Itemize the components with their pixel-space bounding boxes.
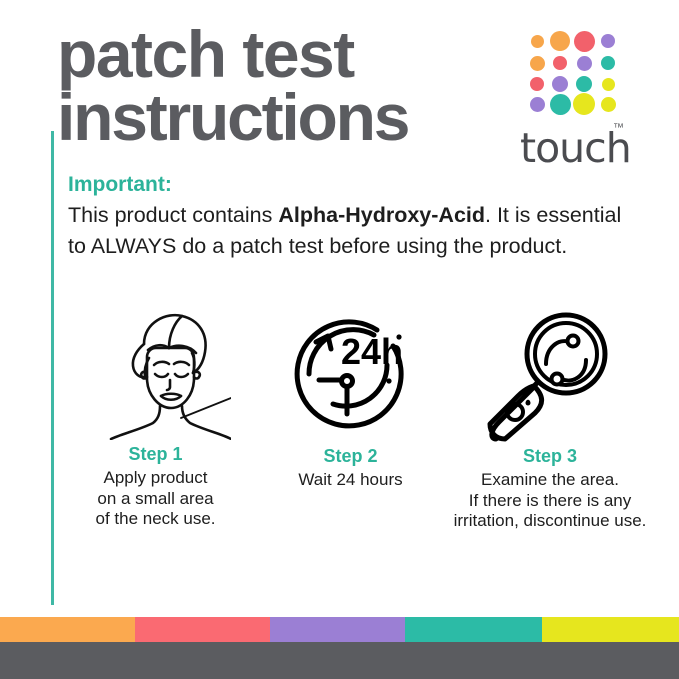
logo-dot-r3-c2	[552, 76, 568, 92]
face-with-towel-patch-icon	[81, 300, 231, 440]
brand-logo: touch ™	[512, 30, 622, 165]
step-2-line-1: Wait 24 hours	[258, 470, 443, 491]
step-2-description: Wait 24 hours	[258, 470, 443, 491]
logo-dot-grid-icon	[526, 30, 620, 118]
notice-text: This product contains Alpha-Hydroxy-Acid…	[68, 200, 638, 262]
logo-dot-r1-c4	[601, 34, 615, 48]
logo-dot-r2-c4	[601, 56, 615, 70]
notice-text-before: This product contains	[68, 203, 278, 227]
logo-dot-r4-c3	[573, 93, 595, 115]
step-2-title: Step 2	[258, 446, 443, 467]
step-1-line-1: Apply product	[58, 468, 253, 489]
title-line-1: patch test	[57, 23, 497, 86]
header: patch test instructions touch ™	[0, 0, 679, 170]
logo-dot-r3-c3	[576, 76, 592, 92]
logo-dot-r3-c1	[530, 77, 544, 91]
step-3: Step 3 Examine the area. If there is the…	[440, 302, 660, 532]
logo-dot-r1-c1	[531, 35, 544, 48]
step-2: 24h Step 2 Wait 24 hours	[258, 302, 443, 491]
footer-bar-orange	[0, 617, 135, 642]
title-line-2: instructions	[57, 86, 497, 149]
notice-block: Important: This product contains Alpha-H…	[68, 172, 638, 263]
magnifying-glass-icon	[478, 302, 623, 442]
logo-dot-r2-c1	[530, 56, 545, 71]
step-3-line-1: Examine the area.	[440, 470, 660, 491]
logo-dot-r4-c4	[601, 97, 616, 112]
clock-label: 24h	[341, 331, 403, 372]
step-1-artwork	[58, 300, 253, 440]
step-3-title: Step 3	[440, 446, 660, 467]
step-1-line-2: on a small area	[58, 489, 253, 510]
footer-color-bar	[0, 617, 679, 642]
logo-dot-r2-c3	[577, 56, 592, 71]
logo-dot-r4-c2	[550, 94, 571, 115]
footer-bar-red	[135, 617, 270, 642]
step-1: Step 1 Apply product on a small area of …	[58, 300, 253, 530]
step-3-line-3: irritation, discontinue use.	[440, 511, 660, 532]
footer-bar-teal	[405, 617, 542, 642]
step-2-artwork: 24h	[258, 302, 443, 442]
notice-highlight: Alpha-Hydroxy-Acid	[278, 203, 485, 227]
logo-dot-r1-c3	[574, 31, 595, 52]
trademark-symbol: ™	[613, 122, 624, 134]
steps-row: Step 1 Apply product on a small area of …	[0, 300, 679, 560]
clock-24h-icon: 24h	[281, 302, 421, 442]
step-1-title: Step 1	[58, 444, 253, 465]
footer-bar-yellow	[542, 617, 679, 642]
step-3-description: Examine the area. If there is there is a…	[440, 470, 660, 532]
footer-bar-purple	[270, 617, 405, 642]
logo-dot-r1-c2	[550, 31, 570, 51]
step-3-line-2: If there is there is any	[440, 491, 660, 512]
step-3-artwork	[440, 302, 660, 442]
page-title: patch test instructions	[57, 23, 497, 150]
step-1-line-3: of the neck use.	[58, 509, 253, 530]
logo-dot-r4-c1	[530, 97, 545, 112]
logo-dot-r3-c4	[602, 78, 615, 91]
footer-band	[0, 642, 679, 679]
step-1-description: Apply product on a small area of the nec…	[58, 468, 253, 530]
poster-root: patch test instructions touch ™ Importan…	[0, 0, 679, 679]
notice-label: Important:	[68, 172, 638, 198]
logo-dot-r2-c2	[553, 56, 567, 70]
